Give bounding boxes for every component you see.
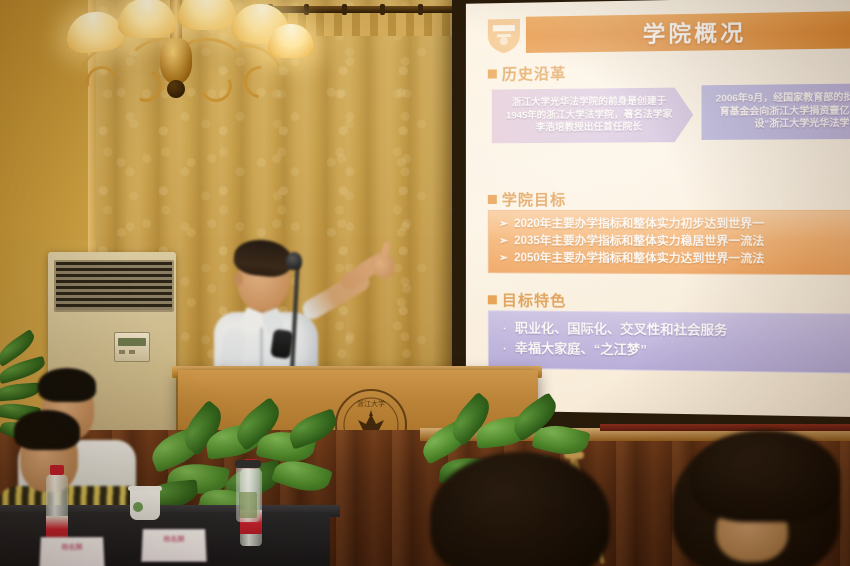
slide-title-bar: 学院概况 <box>526 11 850 53</box>
presentation-photo-scene: 学院概况 历史沿革 浙江大学光华法学院的前身是创建于1945年的浙江大学法学院，… <box>0 0 850 566</box>
bullet-square-icon <box>488 69 497 78</box>
ac-button[interactable] <box>129 350 135 354</box>
ac-display <box>118 338 146 346</box>
wood-rail-trim <box>600 424 850 431</box>
handheld-microphone <box>270 329 294 360</box>
section-heading-goals: 学院目标 <box>488 189 566 210</box>
bullet-square-icon <box>488 295 497 304</box>
name-card: 姓名牌 <box>141 529 207 562</box>
presentation-slide: 学院概况 历史沿革 浙江大学光华法学院的前身是创建于1945年的浙江大学法学院，… <box>466 0 850 418</box>
goal-text: 2035年主要办学指标和整体实力稳居世界一流法 <box>514 233 764 251</box>
goal-item: ➢ 2050年主要办学指标和整体实力达到世界一流法 <box>493 250 850 269</box>
chandelier-finial <box>167 80 185 98</box>
bottle-cap <box>50 465 64 475</box>
name-card-text: 姓名牌 <box>149 536 199 545</box>
tea-tumbler[interactable] <box>236 466 260 522</box>
dot-bullet-icon: · <box>503 339 507 359</box>
goal-item: ➢ 2035年主要办学指标和整体实力稳居世界一流法 <box>493 233 850 251</box>
cup-rim <box>128 486 162 491</box>
goals-box: ➢ 2020年主要办学指标和整体实力初步达到世界一 ➢ 2035年主要办学指标和… <box>488 210 850 276</box>
chandelier <box>72 0 282 114</box>
ac-control-panel[interactable] <box>114 332 150 362</box>
tea-leaves <box>239 492 257 518</box>
goal-item: ➢ 2020年主要办学指标和整体实力初步达到世界一 <box>493 216 850 234</box>
arrow-bullet-icon: ➢ <box>499 216 508 233</box>
arrow-bullet-icon: ➢ <box>499 233 508 250</box>
history-founding-box: 2006年9月，经国家教育部的批准，光华教育基金会向浙江大学捐资壹亿元人民币建设… <box>702 83 850 140</box>
name-card: 姓名牌 <box>39 537 105 566</box>
section-heading-label: 学院目标 <box>502 189 566 210</box>
paper-cup[interactable] <box>130 486 160 520</box>
arrow-bullet-icon: ➢ <box>499 250 508 267</box>
air-vent-grille <box>54 260 174 312</box>
feature-text: 幸福大家庭、“之江梦” <box>515 339 647 361</box>
microphone-head <box>286 252 302 270</box>
projection-screen: 学院概况 历史沿革 浙江大学光华法学院的前身是创建于1945年的浙江大学法学院，… <box>466 0 850 418</box>
goal-text: 2020年主要办学指标和整体实力初步达到世界一 <box>514 216 764 234</box>
chandelier-body <box>160 38 192 84</box>
features-box: · 职业化、国际化、交叉性和社会服务 · 幸福大家庭、“之江梦” <box>488 310 850 374</box>
slide-title: 学院概况 <box>643 15 747 49</box>
svg-text:浙江大学: 浙江大学 <box>357 399 385 408</box>
ac-button[interactable] <box>119 350 125 354</box>
cup-logo <box>133 502 143 512</box>
history-origin-box: 浙江大学光华法学院的前身是创建于1945年的浙江大学法学院，著名法学家李浩培教授… <box>492 87 693 143</box>
section-heading-features: 目标特色 <box>488 289 566 311</box>
lamp-shade <box>178 0 236 30</box>
dot-bullet-icon: · <box>503 318 507 338</box>
section-heading-label: 目标特色 <box>502 289 566 311</box>
goal-text: 2050年主要办学指标和整体实力达到世界一流法 <box>514 250 764 268</box>
shield-crest-icon <box>484 15 524 56</box>
tumbler-lid <box>235 460 261 468</box>
lamp-shade <box>118 0 176 38</box>
section-heading-label: 历史沿革 <box>502 63 566 85</box>
section-heading-history: 历史沿革 <box>488 63 566 85</box>
feature-item: · 幸福大家庭、“之江梦” <box>493 338 850 363</box>
attendee-foreground-right-hair <box>690 430 840 522</box>
curtain-rod <box>250 6 470 13</box>
bullet-square-icon <box>488 195 497 204</box>
feature-text: 职业化、国际化、交叉性和社会服务 <box>515 319 728 341</box>
name-card-text: 姓名牌 <box>47 544 97 553</box>
